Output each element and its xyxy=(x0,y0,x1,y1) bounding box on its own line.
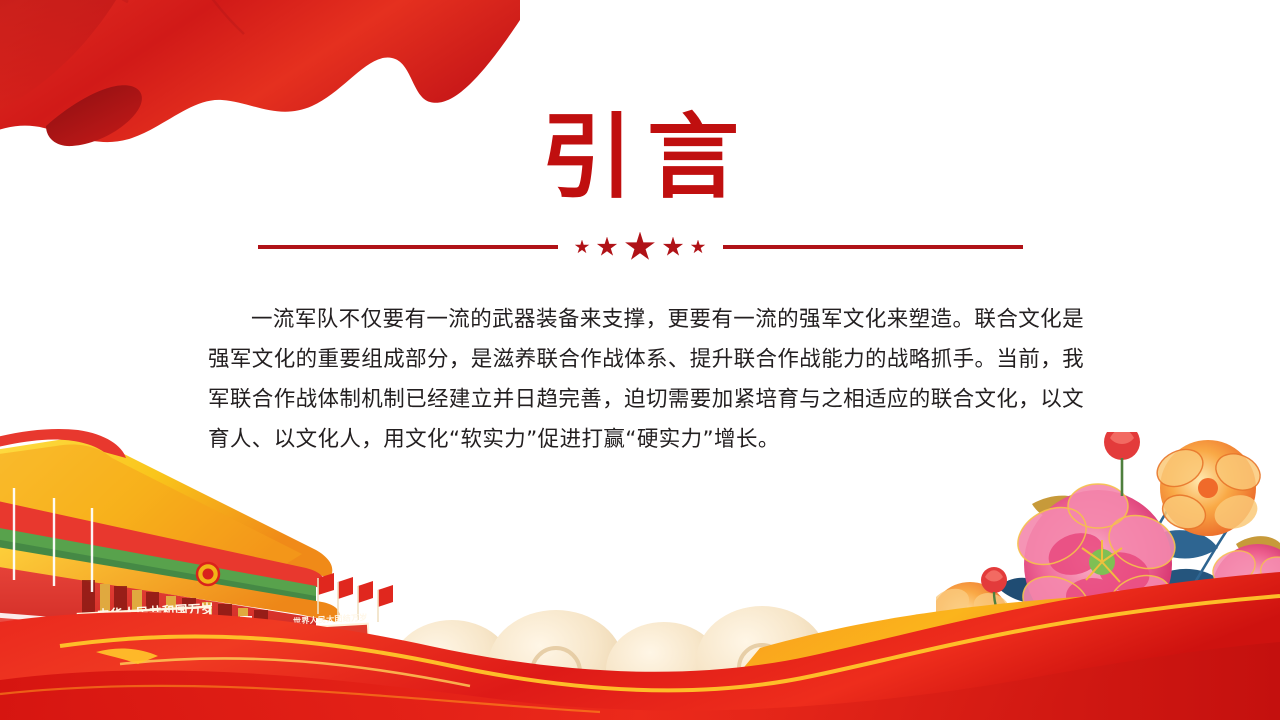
body-paragraph: 一流军队不仅要有一流的武器装备来支撑，更要有一流的强军文化来塑造。联合文化是强军… xyxy=(208,300,1084,460)
slide-title-block: 引言 xyxy=(0,112,1280,204)
star-divider xyxy=(0,234,1280,260)
divider-line-right xyxy=(723,245,1023,249)
star-large-center-icon xyxy=(625,232,656,263)
star-medium-right-icon xyxy=(663,237,684,258)
peony-orange-top xyxy=(1151,440,1266,536)
slide-canvas: 引言 一流军队不仅要有一流的武器装备来支撑，更要有一流的强军文化来塑造。联合文化… xyxy=(0,0,1280,720)
star-medium-left-icon xyxy=(597,237,618,258)
star-small-right-icon xyxy=(691,240,706,255)
divider-line-left xyxy=(258,245,558,249)
star-small-left-icon xyxy=(575,240,590,255)
divider-stars xyxy=(558,232,723,263)
page-title: 引言 xyxy=(527,112,753,204)
red-silk-ribbon xyxy=(0,560,1280,720)
